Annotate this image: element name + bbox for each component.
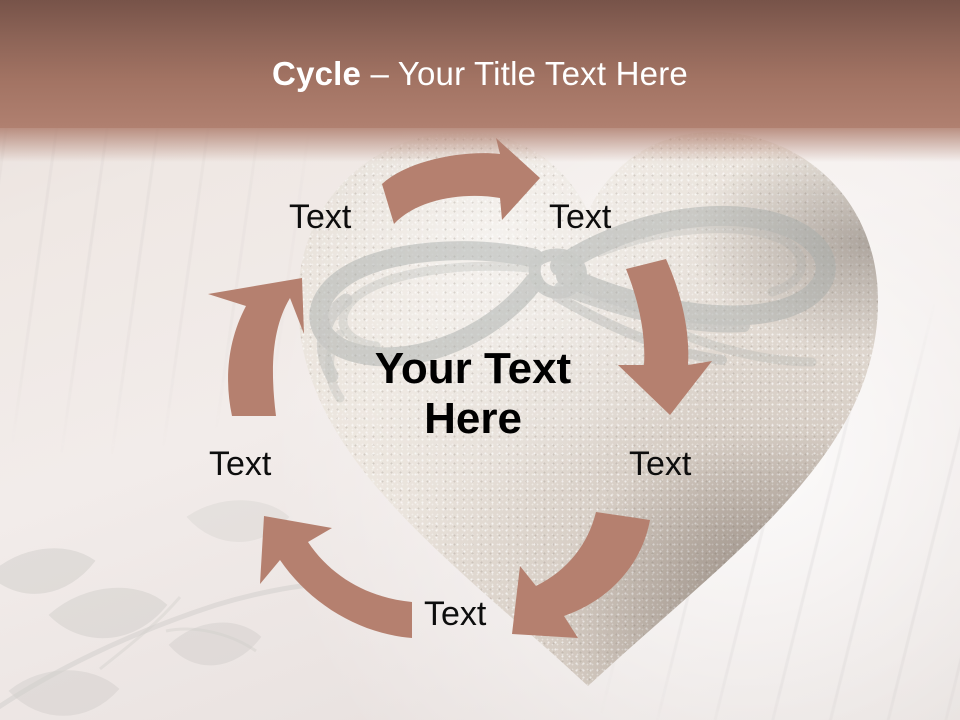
slide-canvas: Text Text Text Text Text Your Text Here …	[0, 0, 960, 720]
node-label-bottom[interactable]: Text	[424, 597, 486, 631]
page-title-rest: – Your Title Text Here	[370, 55, 687, 92]
page-title[interactable]: Cycle – Your Title Text Here	[272, 57, 688, 90]
node-label-right[interactable]: Text	[629, 447, 691, 481]
node-label-top-right[interactable]: Text	[549, 200, 611, 234]
node-label-left[interactable]: Text	[209, 447, 271, 481]
node-label-top-left[interactable]: Text	[289, 200, 351, 234]
center-text[interactable]: Your Text Here	[330, 344, 616, 444]
slide-title-bar: Cycle – Your Title Text Here	[0, 0, 960, 128]
page-title-strong: Cycle	[272, 55, 370, 92]
background-leaves	[0, 455, 310, 720]
